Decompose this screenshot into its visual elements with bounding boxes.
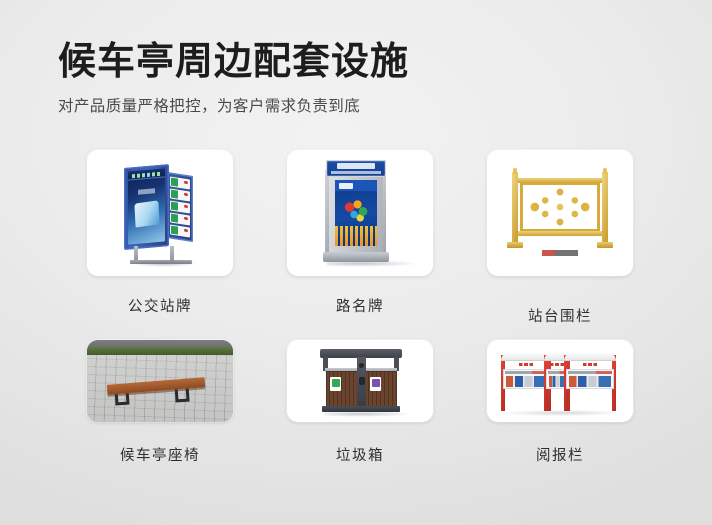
street-name-sign-image bbox=[287, 150, 433, 276]
product-card-street-name-sign[interactable] bbox=[287, 150, 433, 276]
product-grid-row-2: 候车亭座椅 bbox=[60, 326, 660, 465]
product-caption-platform-fence: 站台围栏 bbox=[528, 305, 592, 326]
bus-stop-lightbox-sign-image bbox=[87, 150, 233, 276]
product-card-trash-bin[interactable] bbox=[287, 340, 433, 422]
product-cell-street-name-sign[interactable]: 路名牌 bbox=[260, 150, 460, 326]
shelter-bench-photo-image bbox=[87, 340, 233, 422]
product-card-bus-stop-sign[interactable] bbox=[87, 150, 233, 276]
newspaper-reading-board-image bbox=[487, 340, 633, 422]
page-header: 候车亭周边配套设施 对产品质量严格把控，为客户需求负责到底 bbox=[0, 38, 712, 116]
product-caption-bus-stop-sign: 公交站牌 bbox=[128, 295, 192, 316]
product-caption-street-name-sign: 路名牌 bbox=[336, 295, 384, 316]
product-cell-bus-stop-sign[interactable]: 公交站牌 bbox=[60, 150, 260, 326]
product-cell-platform-fence[interactable]: 站台围栏 bbox=[460, 150, 660, 326]
product-caption-trash-bin: 垃圾箱 bbox=[336, 444, 384, 465]
recycle-icon bbox=[330, 377, 341, 391]
product-cell-trash-bin[interactable]: 垃圾箱 bbox=[260, 340, 460, 465]
product-card-newspaper-board[interactable] bbox=[487, 340, 633, 422]
product-card-platform-fence[interactable] bbox=[487, 150, 633, 276]
page-title: 候车亭周边配套设施 bbox=[58, 38, 712, 84]
product-grid: 公交站牌 bbox=[60, 150, 660, 465]
gold-platform-fence-image bbox=[487, 150, 633, 276]
product-caption-newspaper-board: 阅报栏 bbox=[536, 444, 584, 465]
product-cell-newspaper-board[interactable]: 阅报栏 bbox=[460, 340, 660, 465]
page-subtitle: 对产品质量严格把控，为客户需求负责到底 bbox=[58, 96, 712, 116]
product-caption-shelter-bench: 候车亭座椅 bbox=[120, 444, 200, 465]
dual-trash-bin-image bbox=[287, 340, 433, 422]
product-card-shelter-bench[interactable] bbox=[87, 340, 233, 422]
waste-icon bbox=[370, 377, 381, 391]
product-cell-shelter-bench[interactable]: 候车亭座椅 bbox=[60, 340, 260, 465]
product-showcase-page: 候车亭周边配套设施 对产品质量严格把控，为客户需求负责到底 bbox=[0, 0, 712, 525]
